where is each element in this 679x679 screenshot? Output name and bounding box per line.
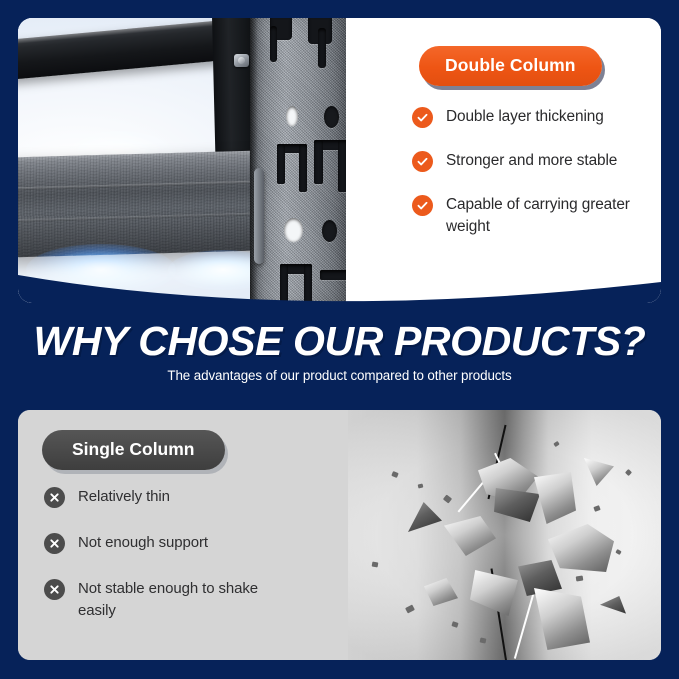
x-icon [44,579,65,600]
bolt-head-icon [234,54,249,67]
check-icon [412,151,433,172]
post-slot [280,264,288,303]
main-textured-beam [18,150,267,257]
product-comparison-infographic: Double Column Double layer thickening [0,0,679,679]
feature-item: Stronger and more stable [412,150,654,172]
debris-chip [372,562,379,568]
photo-vignette [348,410,661,660]
single-column-panel: Single Column Relatively thin [18,410,348,660]
drawback-item: Not stable enough to shake easily [44,578,294,622]
x-icon [44,487,65,508]
double-column-panel: Double Column Double layer thickening [346,18,661,303]
feature-label: Stronger and more stable [446,150,617,172]
post-slot [299,144,307,192]
drawback-item: Relatively thin [44,486,294,508]
post-slot [270,26,277,62]
post-slot [338,140,346,192]
debris-chip [480,637,487,643]
double-column-badge: Double Column [419,46,602,86]
single-column-card: Single Column Relatively thin [18,410,661,660]
check-icon [412,107,433,128]
post-slot [277,144,285,184]
double-column-photo [18,18,346,303]
post-hole [284,218,303,242]
feature-label: Capable of carrying greater weight [446,194,654,238]
page-title: WHY CHOSE OUR PRODUCTS? [0,318,679,365]
drawback-label: Relatively thin [78,486,170,508]
feature-list: Double layer thickening Stronger and mor… [412,106,654,260]
feature-item: Double layer thickening [412,106,654,128]
debris-chip [576,576,584,582]
drawback-item: Not enough support [44,532,294,554]
post-slot [318,28,326,68]
drawback-list: Relatively thin Not enough support [44,486,294,646]
check-icon [412,195,433,216]
single-column-badge: Single Column [42,430,225,470]
post-slot [304,264,312,303]
drawback-label: Not stable enough to shake easily [78,578,294,622]
double-column-card: Double Column Double layer thickening [18,18,661,303]
post-hole [322,220,337,242]
post-hole [324,106,339,128]
drawback-label: Not enough support [78,532,208,554]
post-hole [286,106,298,126]
feature-label: Double layer thickening [446,106,604,128]
page-subtitle: The advantages of our product compared t… [0,368,679,383]
post-bracket [254,168,264,264]
feature-item: Capable of carrying greater weight [412,194,654,238]
x-icon [44,533,65,554]
shattered-glass-photo [348,410,661,660]
post-slot [314,140,323,184]
post-slot [320,270,346,280]
perforated-steel-post [250,18,346,303]
